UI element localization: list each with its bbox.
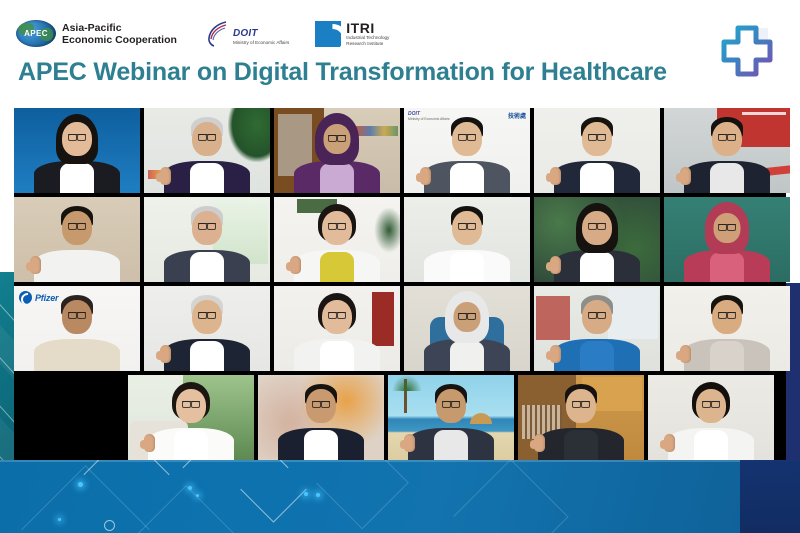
participant-tile[interactable] bbox=[144, 286, 270, 371]
apec-mark-text: APEC bbox=[16, 29, 56, 38]
tile-partition bbox=[536, 296, 570, 340]
participant-glasses bbox=[718, 134, 736, 139]
participant-inner-shirt bbox=[580, 252, 614, 282]
itri-square-icon bbox=[315, 21, 341, 47]
participant-tile[interactable] bbox=[388, 375, 514, 460]
participant-glasses bbox=[718, 224, 736, 229]
video-grid-row-4 bbox=[14, 375, 786, 460]
participant-tile[interactable] bbox=[664, 197, 790, 282]
participant-glasses bbox=[328, 312, 346, 317]
slide-header: APEC Asia-Pacific Economic Cooperation D bbox=[0, 0, 800, 106]
tile-doit-banner: DOITMinistry of Economic Affairs bbox=[408, 111, 450, 121]
participant-glasses bbox=[588, 223, 606, 228]
thumbs-up-gesture bbox=[664, 434, 675, 452]
tile-palm-leaves bbox=[392, 375, 422, 391]
participant-inner-shirt bbox=[304, 430, 338, 460]
participant-glasses bbox=[328, 223, 346, 228]
participant-glasses bbox=[588, 134, 606, 139]
participant-tile[interactable] bbox=[258, 375, 384, 460]
video-grid-row-1: DOITMinistry of Economic Affairs技術處 bbox=[14, 108, 786, 193]
participant-inner-shirt bbox=[320, 163, 354, 193]
participant-glasses bbox=[572, 401, 590, 406]
participant-inner-shirt bbox=[320, 341, 354, 371]
participant-inner-shirt bbox=[320, 252, 354, 282]
participant-glasses bbox=[198, 223, 216, 228]
participant-tile[interactable] bbox=[14, 108, 140, 193]
itri-logo-subtitle-1: Industrial Technology bbox=[346, 35, 389, 41]
participant-glasses bbox=[328, 135, 346, 140]
participant-tile[interactable] bbox=[144, 108, 270, 193]
pfizer-logo: Pfizer bbox=[19, 291, 58, 304]
participant-tile[interactable] bbox=[144, 197, 270, 282]
tile-plant bbox=[374, 207, 400, 253]
participant-inner-shirt bbox=[174, 430, 208, 460]
participant-tile[interactable] bbox=[534, 108, 660, 193]
participant-tile[interactable]: Pfizer bbox=[14, 286, 140, 371]
page-title: APEC Webinar on Digital Transformation f… bbox=[18, 58, 667, 87]
participant-tile[interactable] bbox=[664, 108, 790, 193]
thumbs-up-gesture bbox=[550, 167, 561, 185]
participant-tile[interactable] bbox=[404, 197, 530, 282]
slide-canvas: APEC Asia-Pacific Economic Cooperation D bbox=[0, 0, 800, 533]
participant-glasses bbox=[68, 223, 86, 228]
participant-inner-shirt bbox=[60, 341, 94, 371]
participant-inner-shirt bbox=[710, 163, 744, 193]
participant-tile[interactable] bbox=[664, 286, 790, 371]
pfizer-logo-text: Pfizer bbox=[35, 293, 58, 303]
participant-tile[interactable] bbox=[274, 108, 400, 193]
apec-logo-line2: Economic Cooperation bbox=[62, 34, 177, 46]
tile-plant bbox=[228, 108, 270, 162]
footer-navy-block bbox=[740, 460, 800, 533]
tile-red-panel bbox=[372, 292, 394, 346]
doit-logo: DOIT Ministry of Economic Affairs bbox=[207, 21, 289, 47]
tile-cn-banner: 技術處 bbox=[508, 111, 526, 120]
video-grid-row-2 bbox=[14, 197, 786, 282]
thumbs-up-gesture bbox=[534, 434, 545, 452]
participant-glasses bbox=[68, 134, 86, 139]
participant-glasses bbox=[198, 312, 216, 317]
participant-glasses bbox=[68, 312, 86, 317]
apec-logo-text: Asia-Pacific Economic Cooperation bbox=[62, 22, 177, 46]
thumbs-up-gesture bbox=[680, 167, 691, 185]
participant-glasses bbox=[588, 312, 606, 317]
itri-logo-subtitle-2: Research Institute bbox=[346, 41, 389, 47]
footer-decoration-band bbox=[0, 460, 800, 533]
participant-tile[interactable]: DOITMinistry of Economic Affairs技術處 bbox=[404, 108, 530, 193]
participant-glasses bbox=[718, 312, 736, 317]
participant-glasses bbox=[458, 223, 476, 228]
participant-inner-shirt bbox=[190, 252, 224, 282]
participant-inner-shirt bbox=[190, 163, 224, 193]
participant-tile[interactable] bbox=[128, 375, 254, 460]
participant-glasses bbox=[458, 134, 476, 139]
medical-cross-icon bbox=[718, 22, 776, 80]
thumbs-up-gesture bbox=[290, 256, 301, 274]
participant-glasses bbox=[702, 401, 720, 406]
participant-tile[interactable] bbox=[274, 197, 400, 282]
thumbs-up-gesture bbox=[550, 256, 561, 274]
participant-inner-shirt bbox=[450, 163, 484, 193]
participant-inner-shirt bbox=[580, 341, 614, 371]
thumbs-up-gesture bbox=[30, 256, 41, 274]
participant-inner-shirt bbox=[434, 430, 468, 460]
thumbs-up-gesture bbox=[680, 345, 691, 363]
participant-tile[interactable] bbox=[274, 286, 400, 371]
participant-tile[interactable] bbox=[14, 197, 140, 282]
participant-inner-shirt bbox=[190, 341, 224, 371]
participant-inner-shirt bbox=[564, 430, 598, 460]
participant-tile[interactable] bbox=[404, 286, 530, 371]
participant-tile[interactable] bbox=[648, 375, 774, 460]
thumbs-up-gesture bbox=[420, 167, 431, 185]
apec-logo: APEC Asia-Pacific Economic Cooperation bbox=[16, 20, 177, 47]
thumbs-up-gesture bbox=[550, 345, 561, 363]
participant-glasses bbox=[442, 401, 460, 406]
participant-inner-shirt bbox=[450, 252, 484, 282]
itri-logo: ITRI Industrial Technology Research Inst… bbox=[315, 21, 389, 47]
doit-logo-subtitle: Ministry of Economic Affairs bbox=[233, 40, 289, 46]
participant-inner-shirt bbox=[580, 163, 614, 193]
video-grid-row-3: Pfizer bbox=[14, 286, 786, 371]
tile-books bbox=[356, 126, 398, 136]
thumbs-up-gesture bbox=[160, 345, 171, 363]
participant-glasses bbox=[198, 134, 216, 139]
tile-banner-line bbox=[742, 112, 786, 115]
logo-row: APEC Asia-Pacific Economic Cooperation D bbox=[16, 20, 389, 47]
participant-glasses bbox=[182, 401, 200, 406]
itri-logo-name: ITRI bbox=[346, 21, 389, 35]
participant-tile[interactable] bbox=[534, 197, 660, 282]
video-grid: DOITMinistry of Economic Affairs技術處 Pfiz… bbox=[14, 108, 786, 460]
participant-inner-shirt bbox=[710, 252, 744, 282]
participant-inner-shirt bbox=[694, 430, 728, 460]
thumbs-up-gesture bbox=[160, 167, 171, 185]
apec-logo-line1: Asia-Pacific bbox=[62, 22, 177, 34]
participant-glasses bbox=[312, 401, 330, 406]
doit-logo-name: DOIT bbox=[233, 29, 289, 39]
pfizer-mark-icon bbox=[19, 291, 32, 304]
tile-window bbox=[608, 288, 658, 339]
participant-inner-shirt bbox=[450, 341, 484, 371]
participant-tile[interactable] bbox=[518, 375, 644, 460]
thumbs-up-gesture bbox=[404, 434, 415, 452]
doit-logo-text: DOIT Ministry of Economic Affairs bbox=[233, 29, 289, 47]
apec-globe-icon: APEC bbox=[16, 20, 56, 47]
participant-glasses bbox=[458, 313, 476, 318]
participant-inner-shirt bbox=[60, 252, 94, 282]
participant-inner-shirt bbox=[710, 341, 744, 371]
thumbs-up-gesture bbox=[144, 434, 155, 452]
participant-inner-shirt bbox=[60, 163, 94, 193]
doit-swoosh-icon bbox=[207, 21, 229, 47]
itri-logo-text: ITRI Industrial Technology Research Inst… bbox=[346, 21, 389, 47]
participant-tile[interactable] bbox=[534, 286, 660, 371]
